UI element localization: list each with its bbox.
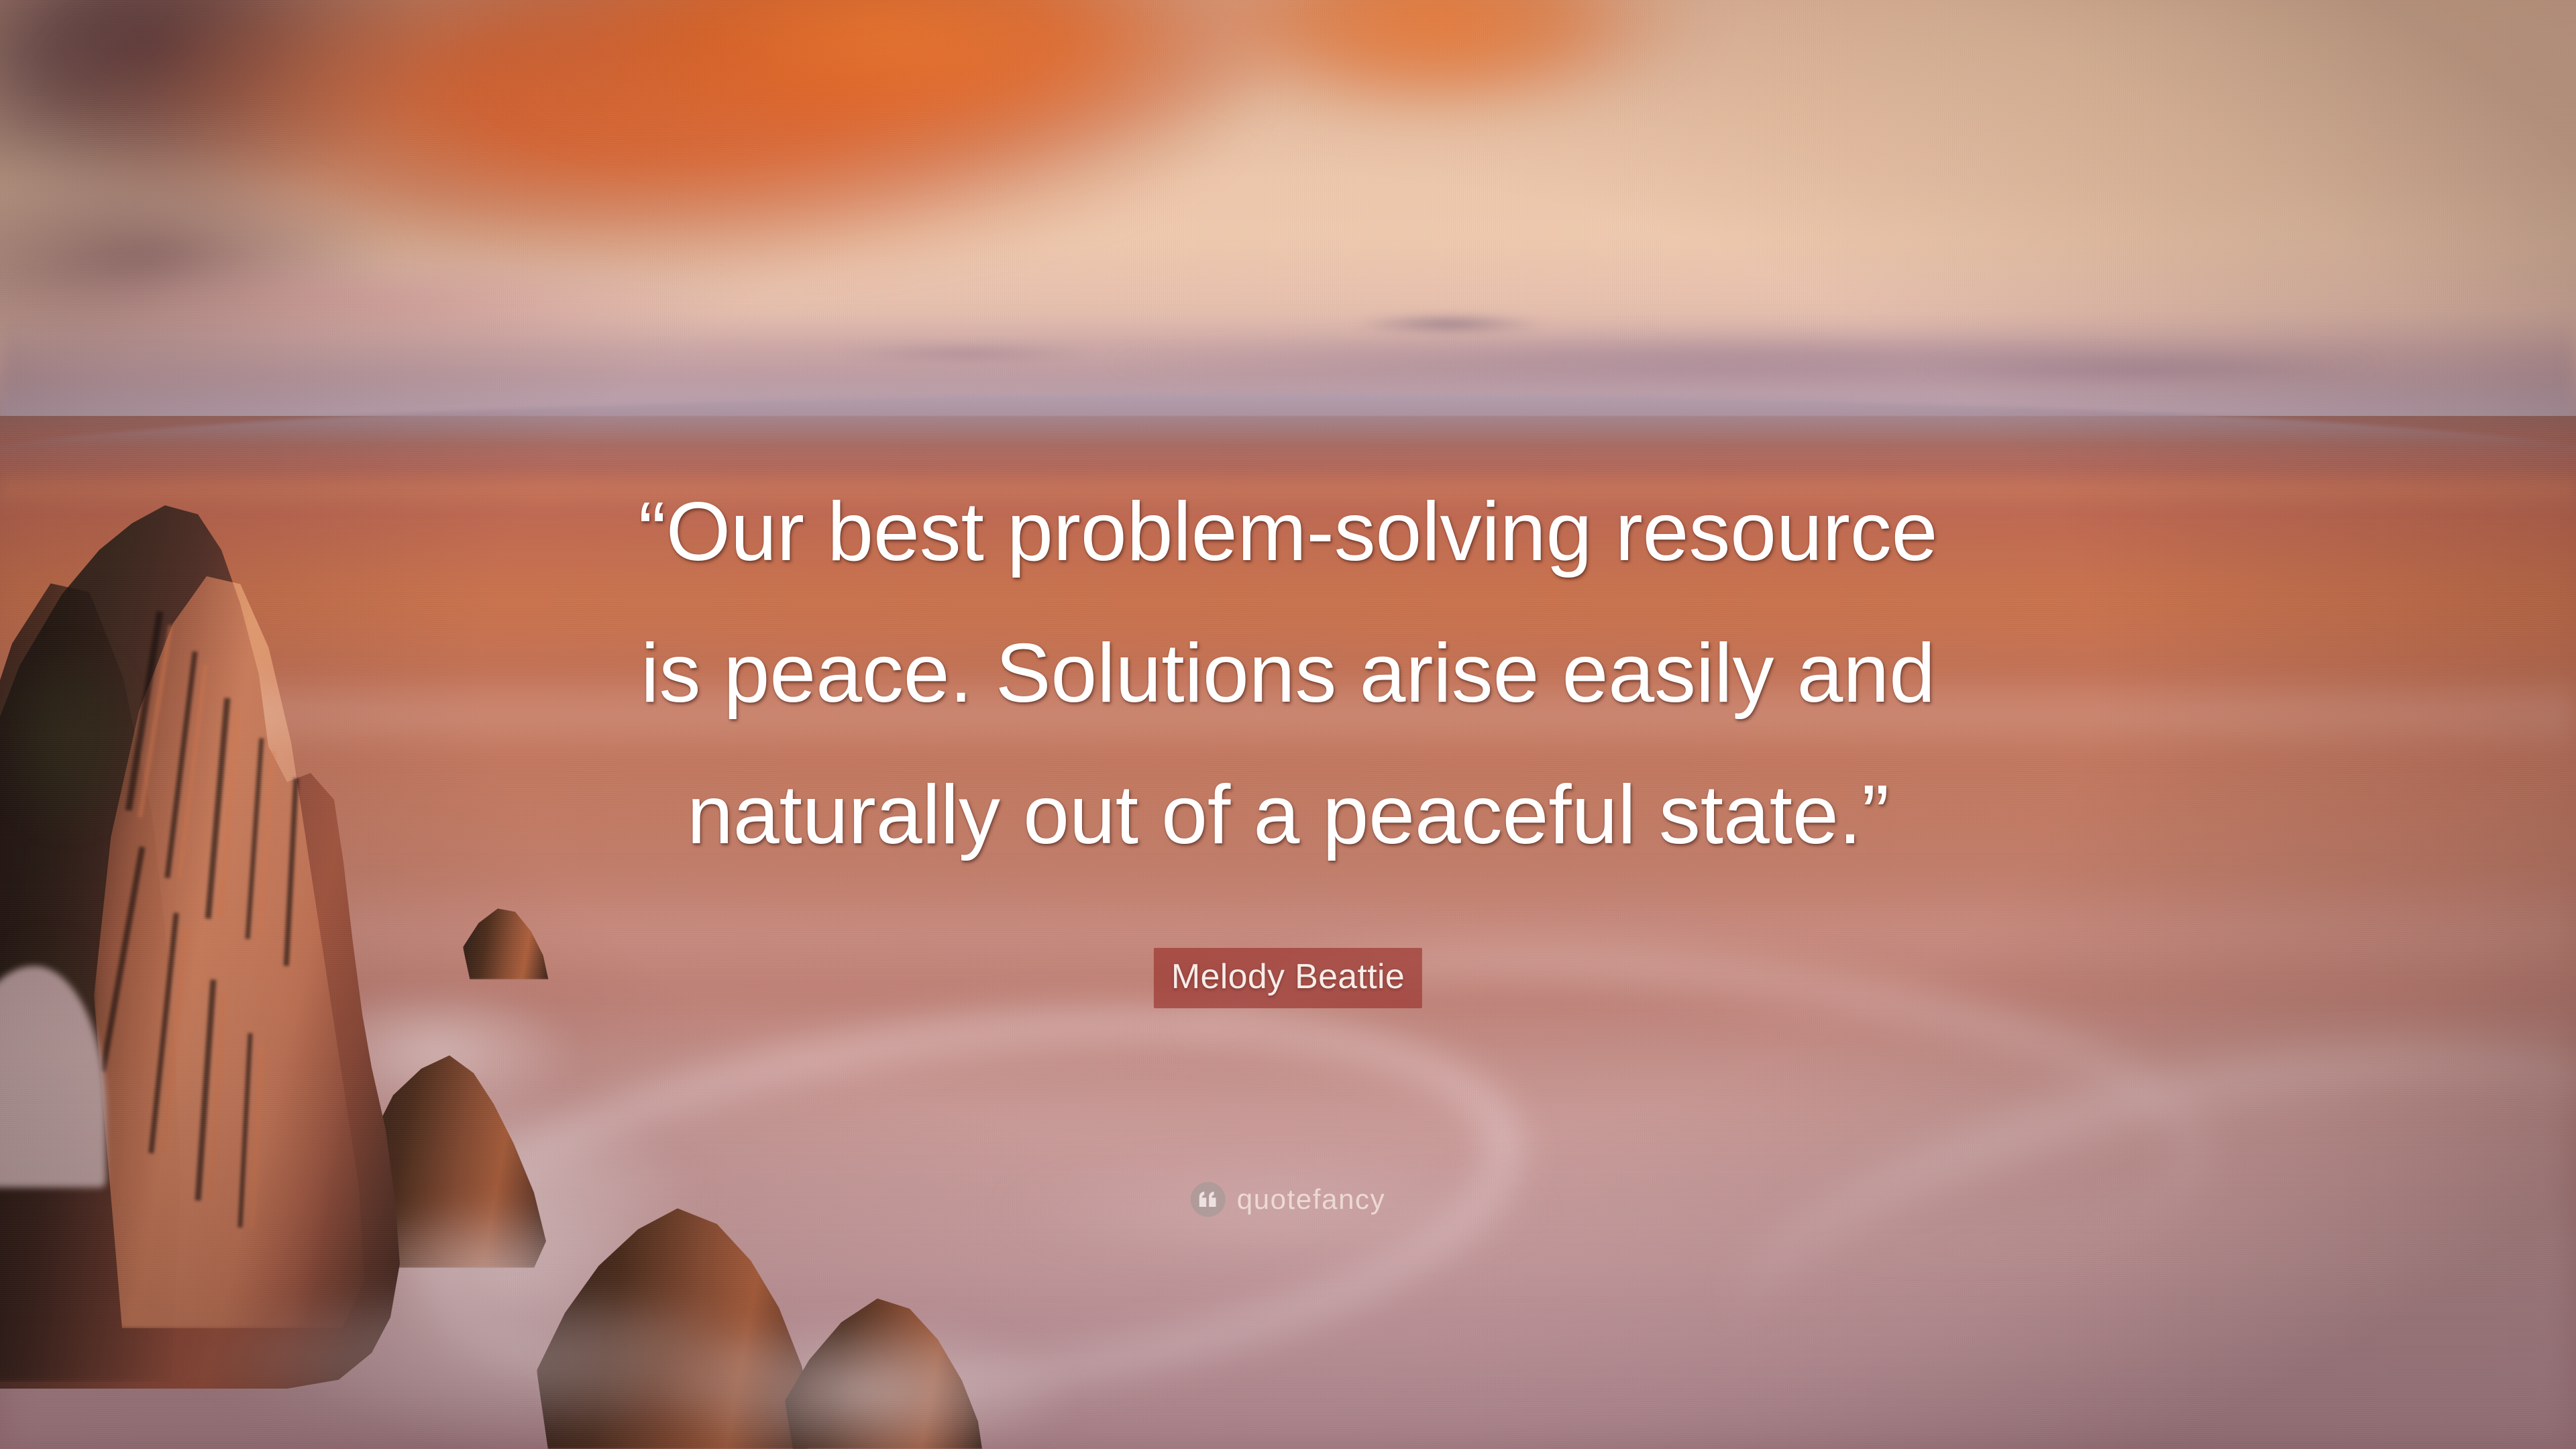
sea-streak [94, 671, 2576, 758]
cloud-wisp [792, 339, 1140, 368]
cloud-orange-right [1140, 0, 1878, 134]
cloud-wisp [1328, 309, 1570, 339]
surf-foam-bottom-left [94, 1261, 899, 1449]
surf-foam-mid [906, 1134, 1644, 1288]
quote-wallpaper: “Our best problem-solving resource is pe… [0, 0, 2576, 1449]
sea-stack [0, 496, 463, 1389]
